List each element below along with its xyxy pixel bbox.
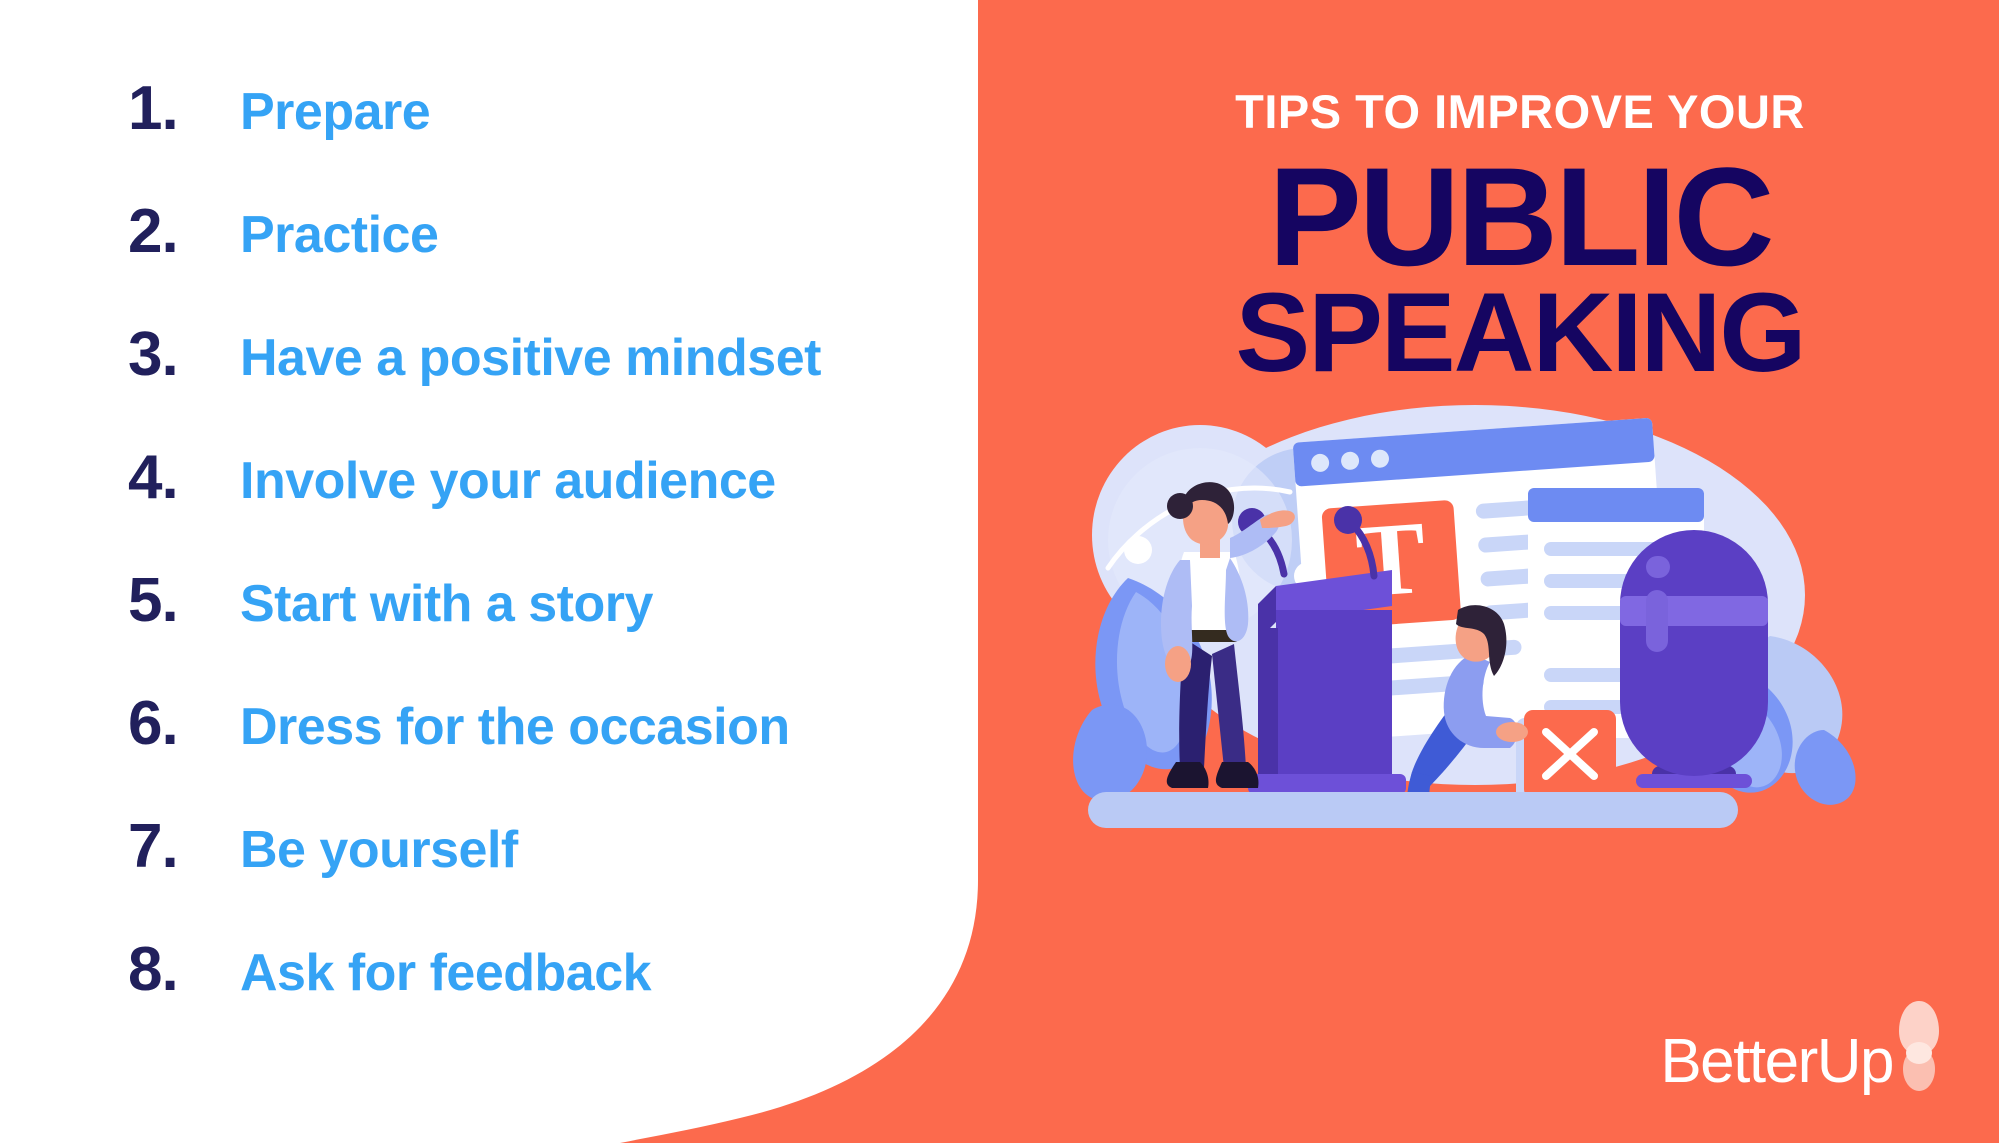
tips-list: 1. Prepare 2. Practice 3. Have a positiv… [0,0,900,1143]
list-item: 8. Ask for feedback [128,939,900,1062]
list-item: 6. Dress for the occasion [128,693,900,816]
list-item-number: 3. [128,324,240,386]
list-item-label: Start with a story [240,578,653,630]
list-item-number: 5. [128,570,240,632]
list-item: 4. Involve your audience [128,447,900,570]
list-item-number: 4. [128,447,240,509]
list-item-number: 6. [128,693,240,755]
betterup-logo[interactable]: BetterUp [1660,999,1941,1093]
podcast-microphone [1620,530,1768,788]
list-item: 3. Have a positive mindset [128,324,900,447]
list-item: 2. Practice [128,201,900,324]
headline-line-public: PUBLIC [1150,149,1890,285]
ground-bar [1088,792,1738,828]
list-item: 5. Start with a story [128,570,900,693]
list-item-number: 2. [128,201,240,263]
list-item-label: Be yourself [240,824,518,876]
betterup-wordmark: BetterUp [1660,1031,1893,1093]
list-item-label: Prepare [240,86,430,138]
list-item-label: Involve your audience [240,455,776,507]
betterup-flame-icon [1897,999,1941,1093]
close-card [1516,710,1616,806]
list-item-label: Practice [240,209,438,261]
list-item-label: Dress for the occasion [240,701,790,753]
list-item-number: 7. [128,816,240,878]
podium [1248,570,1406,794]
headline-line-speaking: SPEAKING [1150,279,1890,388]
list-item-label: Ask for feedback [240,947,651,999]
poster-canvas: 1. Prepare 2. Practice 3. Have a positiv… [0,0,1999,1143]
public-speaking-illustration: T [1080,400,1870,820]
list-item-number: 8. [128,939,240,1001]
list-item-number: 1. [128,78,240,140]
headline-block: TIPS TO IMPROVE YOUR PUBLIC SPEAKING [1150,88,1890,387]
list-item: 7. Be yourself [128,816,900,939]
headline-kicker: TIPS TO IMPROVE YOUR [1150,88,1890,135]
list-item: 1. Prepare [128,78,900,201]
list-item-label: Have a positive mindset [240,332,821,384]
